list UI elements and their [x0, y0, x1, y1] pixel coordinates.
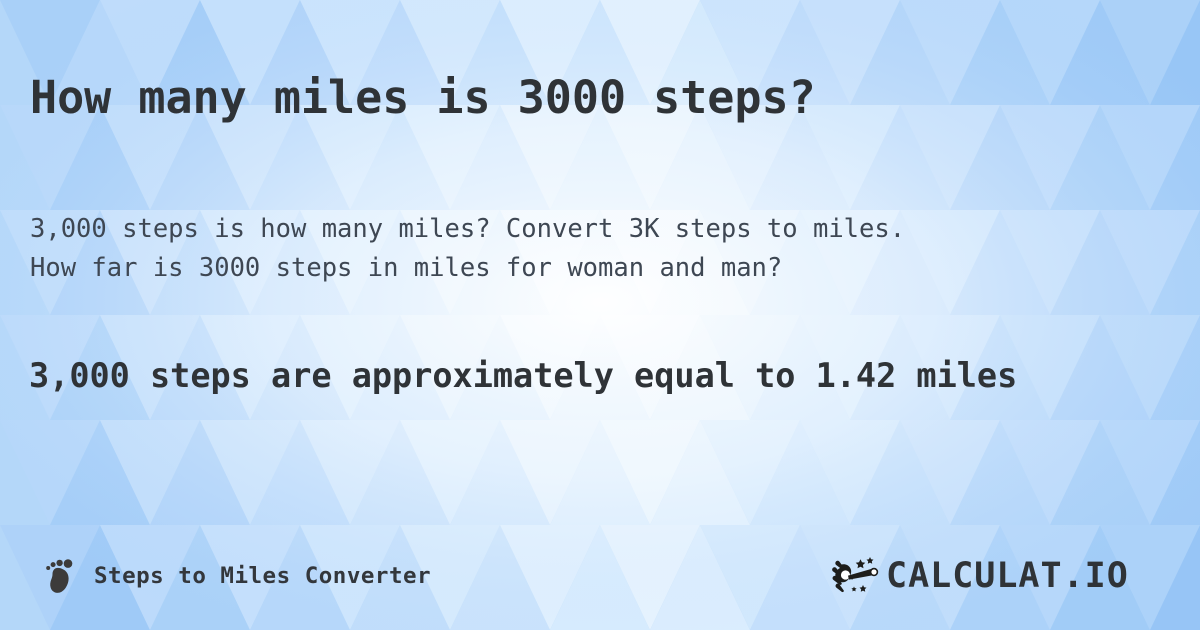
brand-logo[interactable]: CALCULAT.IO — [830, 550, 1168, 602]
brand-wordmark: CALCULAT.IO — [886, 554, 1168, 598]
footprint-icon — [42, 556, 78, 596]
page-title: How many miles is 3000 steps? — [30, 70, 1170, 126]
footer-label: Steps to Miles Converter — [94, 563, 431, 589]
hand-magic-wand-icon — [830, 554, 882, 598]
answer-text: 3,000 steps are approximately equal to 1… — [29, 352, 1119, 400]
page-description: 3,000 steps is how many miles? Convert 3… — [30, 210, 1150, 288]
footer: Steps to Miles Converter — [0, 548, 1200, 608]
social-preview-card: How many miles is 3000 steps? 3,000 step… — [0, 0, 1200, 630]
brand-wordmark-text: CALCULAT.IO — [886, 556, 1129, 596]
description-line-1: 3,000 steps is how many miles? Convert 3… — [30, 214, 905, 244]
footer-branding: Steps to Miles Converter — [42, 548, 431, 604]
description-line-2: How far is 3000 steps in miles for woman… — [30, 249, 1150, 288]
